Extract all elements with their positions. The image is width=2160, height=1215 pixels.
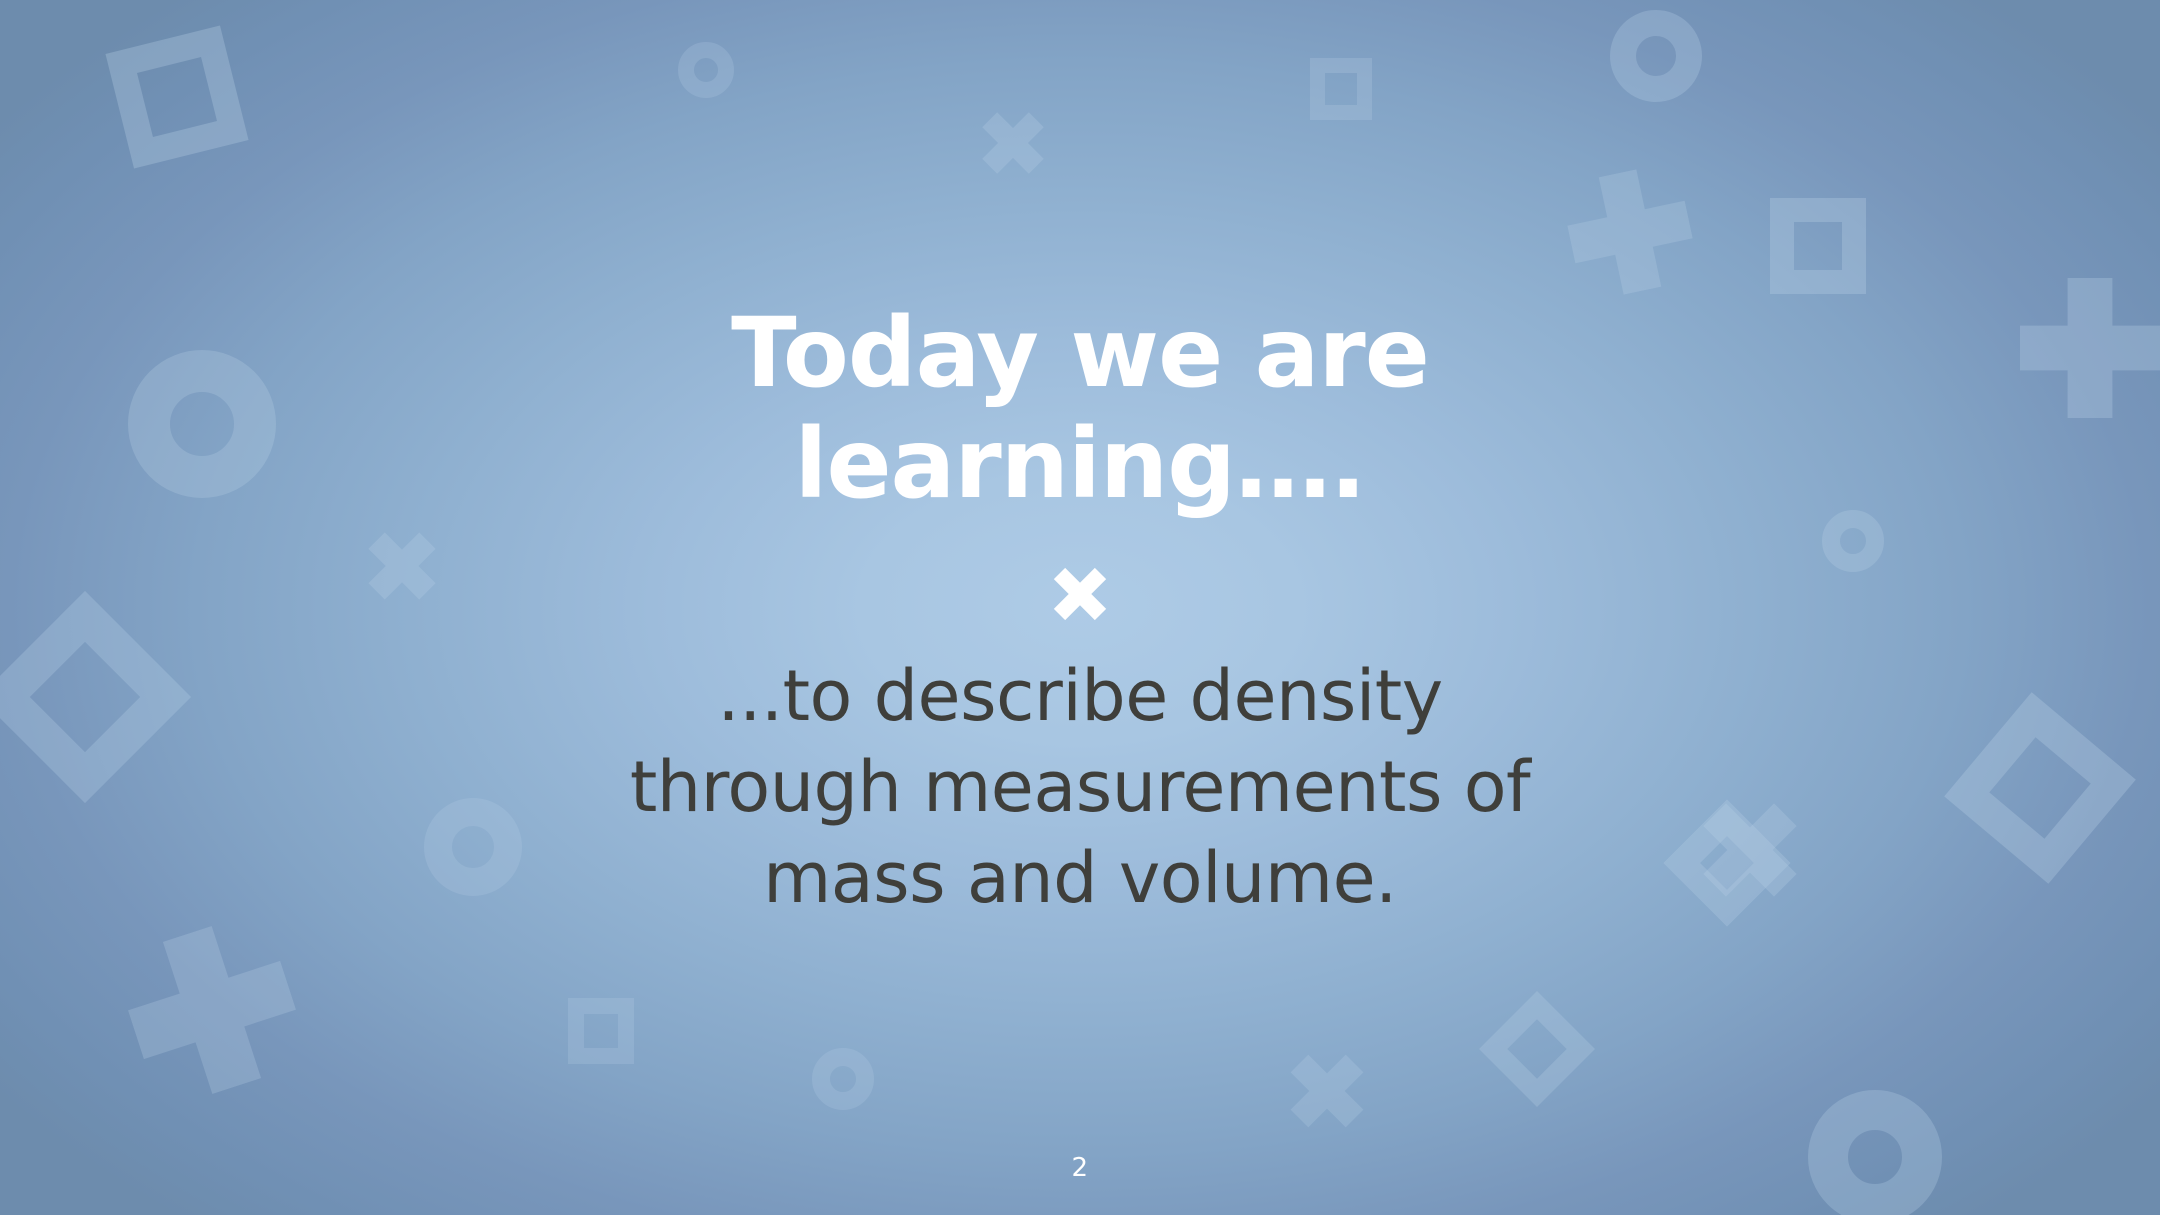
- title-line-2: learning….: [795, 408, 1366, 520]
- page-title: Today we are learning….: [490, 0, 1670, 521]
- page-number: 2: [0, 1153, 2160, 1183]
- x-cross-icon: [1045, 559, 1115, 629]
- body-line-3: mass and volume.: [763, 837, 1397, 919]
- title-line-1: Today we are: [731, 297, 1429, 409]
- slide-canvas: Today we are learning…. ...to describe d…: [0, 0, 2160, 1215]
- body-text: ...to describe density through measureme…: [550, 651, 1610, 924]
- x-cross-glyph: [1039, 553, 1121, 635]
- body-line-1: ...to describe density: [717, 655, 1442, 737]
- body-line-2: through measurements of: [630, 746, 1530, 828]
- slide-content: Today we are learning…. ...to describe d…: [0, 0, 2160, 1215]
